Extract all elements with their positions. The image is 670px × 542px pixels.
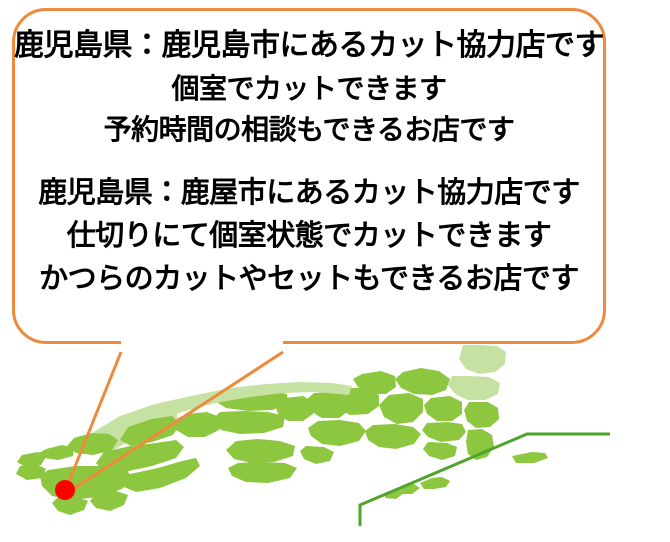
region-kinki-wakayama (300, 446, 334, 464)
callout-line: 仕切りにて個室状態でカットできます (12, 214, 606, 257)
region-chubu-shizuoka-aichi (365, 424, 421, 449)
callout-line: 鹿児島県：鹿屋市にあるカット協力店です (12, 170, 606, 214)
callout-block-kanoya-city: 鹿児島県：鹿屋市にあるカット協力店です 仕切りにて個室状態でカットできます かつ… (12, 170, 606, 300)
region-kanto-ibaraki (464, 402, 499, 428)
region-tohoku-miyagi-yamagata (459, 345, 506, 374)
region-kinki-osaka-nara-mie (308, 420, 366, 446)
island-miyako (512, 452, 548, 463)
region-tohoku-fukushima (448, 376, 500, 400)
region-shikoku-kochi-tokushima (228, 462, 297, 483)
callout-line: 個室でカットできます (12, 68, 606, 110)
callout-line: 鹿児島県：鹿児島市にあるカット協力店です (12, 24, 606, 68)
region-kanto-kanagawa (423, 442, 457, 460)
region-kanto-saitama-tokyo (422, 422, 466, 442)
map-callout-graphic: 鹿児島県：鹿児島市にあるカット協力店です 個室でカットできます 予約時間の相談も… (0, 0, 670, 542)
region-chubu-niigata (395, 368, 450, 395)
callout-text-container: 鹿児島県：鹿児島市にあるカット協力店です 個室でカットできます 予約時間の相談も… (12, 8, 606, 344)
region-chugoku-okayama-hiroshima (211, 411, 285, 434)
region-kyushu-satsuma-peninsula (52, 497, 88, 515)
region-shikoku-ehime-kagawa (226, 439, 295, 463)
region-chubu-nagano-yamanashi (379, 393, 423, 424)
region-kanto-tochigi-gunma (424, 396, 462, 421)
region-chugoku-yamaguchi (173, 412, 220, 437)
callout-block-kagoshima-city: 鹿児島県：鹿児島市にあるカット協力店です 個室でカットできます 予約時間の相談も… (12, 24, 606, 150)
region-kyushu-amakusa (16, 464, 46, 480)
callout-line: 予約時間の相談もできるお店です (12, 110, 606, 150)
callout-line: かつらのカットやセットもできるお店です (12, 257, 606, 300)
